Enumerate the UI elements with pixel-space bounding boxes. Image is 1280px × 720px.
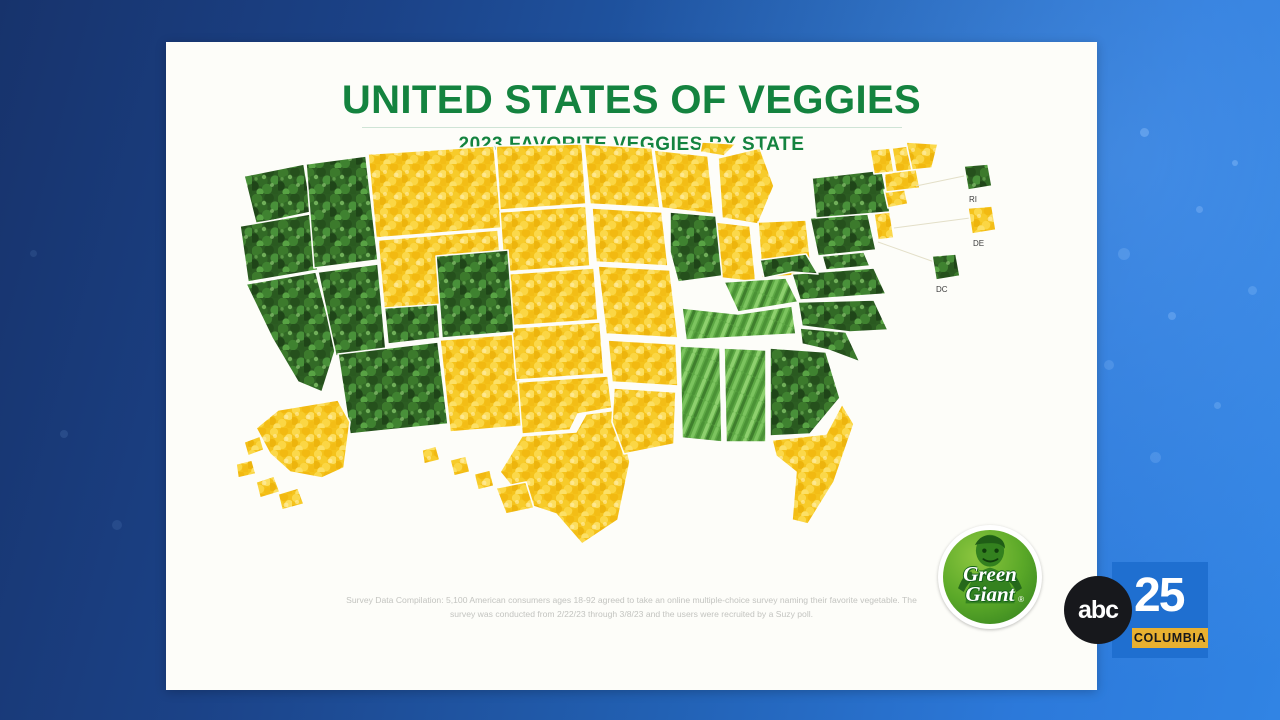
- bokeh-dot: [1196, 206, 1203, 213]
- bokeh-dot: [1150, 452, 1161, 463]
- bokeh-dot: [30, 250, 37, 257]
- usa-veggie-map: .st { stroke:#fdfdf9; stroke-width:1.6; …: [226, 142, 1036, 582]
- bokeh-dot: [1118, 248, 1130, 260]
- abc-circle: abc: [1064, 576, 1132, 644]
- bokeh-dot: [1104, 360, 1114, 370]
- registered-mark: ®: [1018, 595, 1024, 604]
- abc-wordmark: abc: [1064, 596, 1132, 625]
- callout-label-ri: RI: [969, 195, 977, 204]
- bokeh-dot: [112, 520, 122, 530]
- logo-line-2: Giant: [965, 582, 1014, 606]
- channel-number: 25: [1134, 572, 1183, 620]
- screen: UNITED STATES OF VEGGIES 2023 FAVORITE V…: [0, 0, 1280, 720]
- callout-label-de: DE: [973, 239, 984, 248]
- market-bar: COLUMBIA: [1132, 628, 1208, 648]
- survey-footnote: Survey Data Compilation: 5,100 American …: [344, 594, 919, 622]
- station-bug: abc 25 COLUMBIA: [1060, 562, 1208, 658]
- logo-disc: Green Giant ®: [943, 530, 1037, 624]
- callout-label-dc: DC: [936, 285, 948, 294]
- bokeh-dot: [1168, 312, 1176, 320]
- market-name: COLUMBIA: [1132, 628, 1208, 648]
- green-giant-logo: Green Giant ®: [938, 525, 1042, 629]
- infographic-card: UNITED STATES OF VEGGIES 2023 FAVORITE V…: [166, 42, 1097, 690]
- bokeh-dot: [1214, 402, 1221, 409]
- bokeh-dot: [60, 430, 68, 438]
- bokeh-dot: [1248, 286, 1257, 295]
- page-title: UNITED STATES OF VEGGIES: [166, 78, 1097, 123]
- title-divider: [362, 127, 902, 128]
- bokeh-dot: [1140, 128, 1149, 137]
- bokeh-dot: [1232, 160, 1238, 166]
